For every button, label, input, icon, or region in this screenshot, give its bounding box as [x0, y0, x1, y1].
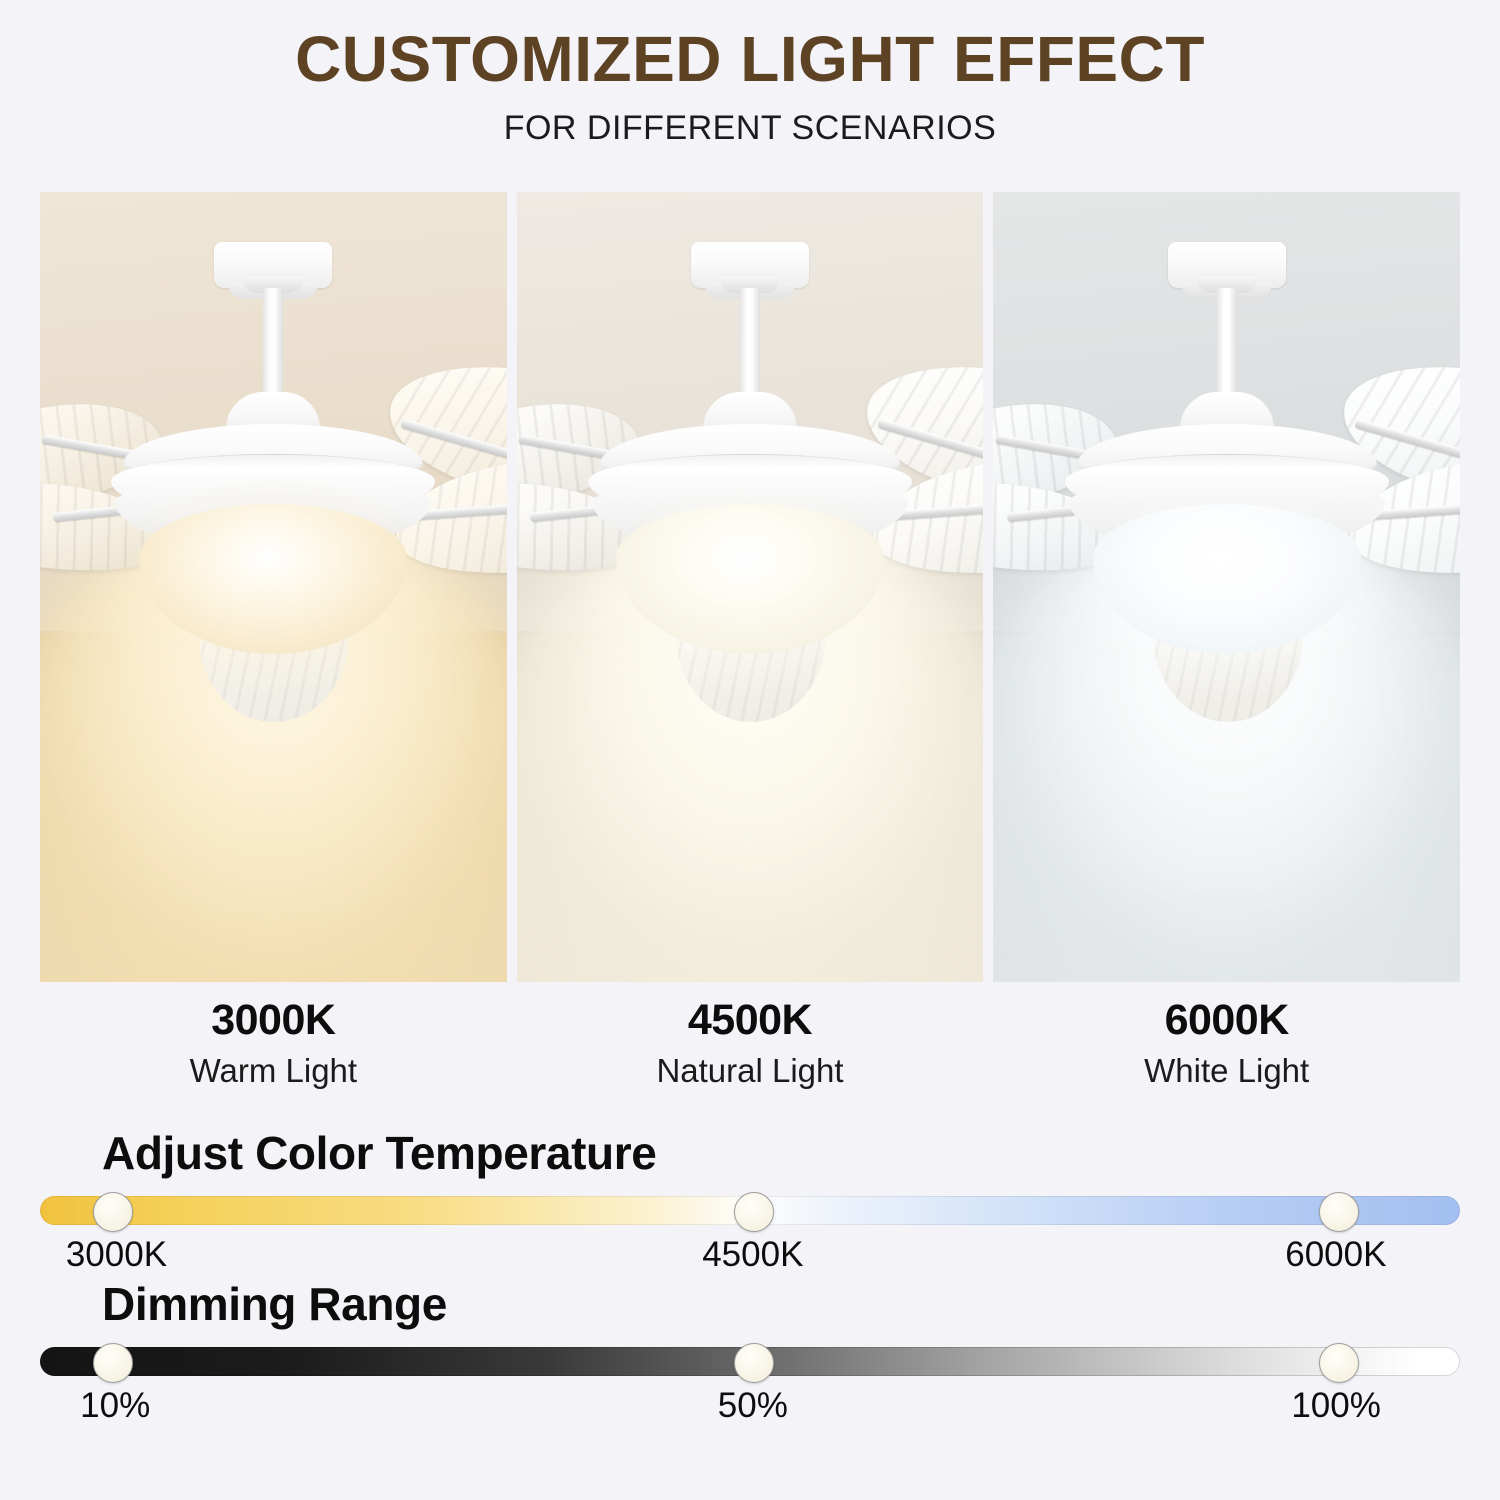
tick-label-6000k: 6000K [1285, 1235, 1386, 1275]
scenario-name: White Light [993, 1050, 1460, 1091]
dimming-range-slider-block: Dimming Range 10% 50% 100% [40, 1277, 1460, 1438]
dimming-range-ticks: 10% 50% 100% [40, 1386, 1460, 1438]
scenario-temperature: 6000K [993, 996, 1460, 1044]
downrod [263, 288, 283, 404]
dimming-range-knob-50[interactable] [734, 1343, 774, 1383]
scenario-temperature: 4500K [517, 996, 984, 1044]
page-subtitle: FOR DIFFERENT SCENARIOS [0, 109, 1500, 148]
downrod [1217, 288, 1237, 404]
scenario-caption-row: 3000K Warm Light 4500K Natural Light 600… [40, 996, 1460, 1104]
color-temperature-slider-block: Adjust Color Temperature 3000K 4500K 600… [40, 1126, 1460, 1287]
color-temperature-knob-4500k[interactable] [734, 1192, 774, 1232]
scenario-caption-4500k: 4500K Natural Light [517, 996, 984, 1104]
dimming-range-track[interactable] [40, 1347, 1460, 1376]
downrod [740, 288, 760, 404]
tick-label-3000k: 3000K [66, 1235, 167, 1275]
color-temperature-title: Adjust Color Temperature [102, 1126, 1460, 1180]
scenario-caption-6000k: 6000K White Light [993, 996, 1460, 1104]
tick-label-10-percent: 10% [80, 1386, 150, 1426]
color-temperature-knob-6000k[interactable] [1319, 1192, 1359, 1232]
page-header: CUSTOMIZED LIGHT EFFECT FOR DIFFERENT SC… [0, 0, 1500, 148]
scenario-image-6000k [993, 192, 1460, 982]
scenario-name: Natural Light [517, 1050, 984, 1091]
tick-label-50-percent: 50% [718, 1386, 788, 1426]
scenario-image-3000k [40, 192, 507, 982]
tick-label-4500k: 4500K [702, 1235, 803, 1275]
scenario-caption-3000k: 3000K Warm Light [40, 996, 507, 1104]
color-temperature-track[interactable] [40, 1196, 1460, 1225]
scenario-image-4500k [517, 192, 984, 982]
scenario-temperature: 3000K [40, 996, 507, 1044]
dimming-range-knob-100[interactable] [1319, 1343, 1359, 1383]
dimming-range-knob-10[interactable] [93, 1343, 133, 1383]
color-temperature-knob-3000k[interactable] [93, 1192, 133, 1232]
scenario-name: Warm Light [40, 1050, 507, 1091]
dimming-range-title: Dimming Range [102, 1277, 1460, 1331]
scenario-image-row [40, 192, 1460, 982]
page-title: CUSTOMIZED LIGHT EFFECT [0, 26, 1500, 93]
tick-label-100-percent: 100% [1291, 1386, 1381, 1426]
